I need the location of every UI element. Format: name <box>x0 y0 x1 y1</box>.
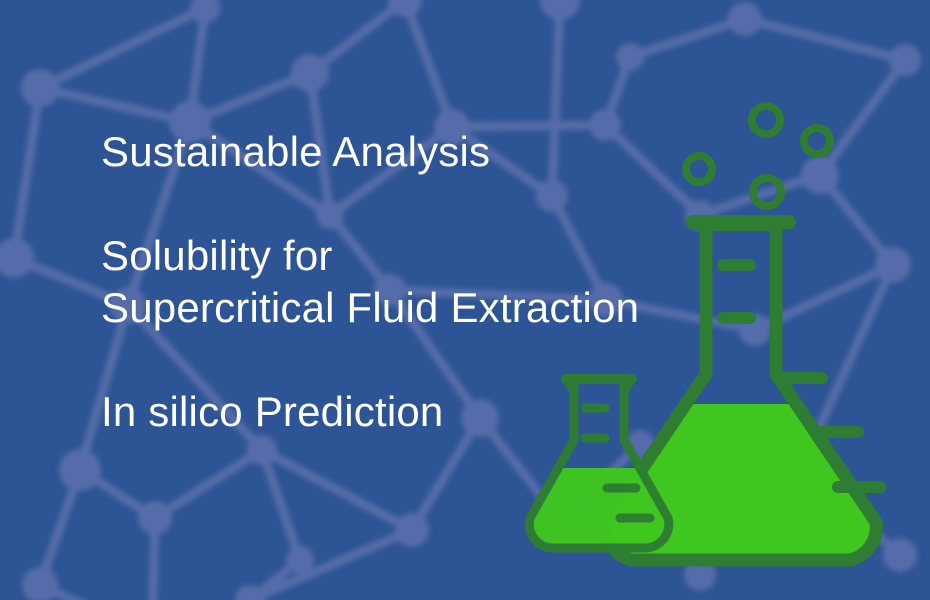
network-node <box>728 2 762 36</box>
slide-canvas: Sustainable Analysis Solubility for Supe… <box>0 0 930 600</box>
bubble-icon <box>752 106 780 134</box>
network-node <box>291 54 329 92</box>
network-node <box>889 44 921 76</box>
network-node <box>286 546 314 574</box>
bubbles-group <box>686 106 830 206</box>
network-node <box>374 274 406 306</box>
bubble-icon <box>753 178 781 206</box>
network-node <box>461 399 499 437</box>
small-flask-rim-left <box>566 379 574 390</box>
network-node <box>59 449 101 491</box>
network-node <box>395 513 429 547</box>
bubble-icon <box>804 128 830 154</box>
network-node <box>316 201 344 229</box>
network-node <box>247 435 277 465</box>
bubble-icon <box>686 156 712 182</box>
network-node <box>169 101 211 143</box>
small-flask-rim-right <box>624 379 632 390</box>
network-node <box>138 501 172 535</box>
network-node <box>616 43 644 71</box>
network-node <box>110 287 146 323</box>
network-node <box>21 69 59 107</box>
network-node <box>434 109 470 145</box>
flask-illustration <box>520 90 930 570</box>
